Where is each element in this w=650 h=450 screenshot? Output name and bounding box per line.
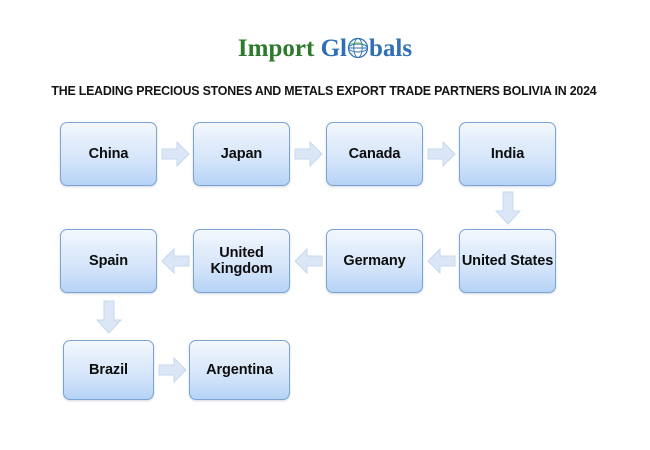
logo-text-import: Import — [238, 35, 314, 62]
flow-node-india[interactable]: India — [459, 122, 556, 186]
flow-node-label: Canada — [349, 146, 401, 162]
flow-node-united-states[interactable]: United States — [459, 229, 556, 293]
arrow-united-states-germany — [427, 247, 456, 275]
arrow-brazil-argentina — [158, 356, 187, 384]
page-title: THE LEADING PRECIOUS STONES AND METALS E… — [18, 84, 630, 98]
flow-node-label: Japan — [221, 146, 262, 162]
arrow-spain-brazil — [95, 300, 123, 335]
arrow-india-united-states — [494, 191, 522, 226]
flow-node-japan[interactable]: Japan — [193, 122, 290, 186]
globe-icon — [347, 37, 369, 59]
flow-node-brazil[interactable]: Brazil — [63, 340, 154, 400]
arrow-china-japan — [161, 140, 190, 168]
arrow-united-kingdom-spain — [161, 247, 190, 275]
flow-node-label: India — [491, 146, 524, 162]
flow-node-germany[interactable]: Germany — [326, 229, 423, 293]
arrow-japan-canada — [294, 140, 323, 168]
flow-node-canada[interactable]: Canada — [326, 122, 423, 186]
flow-node-label: Argentina — [206, 362, 273, 378]
logo-text-bals: bals — [369, 35, 412, 62]
brand-logo: Import Gl bals — [0, 36, 650, 61]
flow-node-label: United Kingdom — [194, 245, 289, 277]
flow-node-label: Germany — [343, 253, 405, 269]
logo-text-gl: Gl — [321, 35, 347, 62]
flow-node-label: China — [89, 146, 129, 162]
flow-node-argentina[interactable]: Argentina — [189, 340, 290, 400]
flow-node-spain[interactable]: Spain — [60, 229, 157, 293]
flow-node-label: United States — [462, 253, 553, 269]
arrow-germany-united-kingdom — [294, 247, 323, 275]
flow-node-china[interactable]: China — [60, 122, 157, 186]
flow-node-label: Spain — [89, 253, 128, 269]
flow-node-united-kingdom[interactable]: United Kingdom — [193, 229, 290, 293]
flow-node-label: Brazil — [89, 362, 128, 378]
arrow-canada-india — [427, 140, 456, 168]
